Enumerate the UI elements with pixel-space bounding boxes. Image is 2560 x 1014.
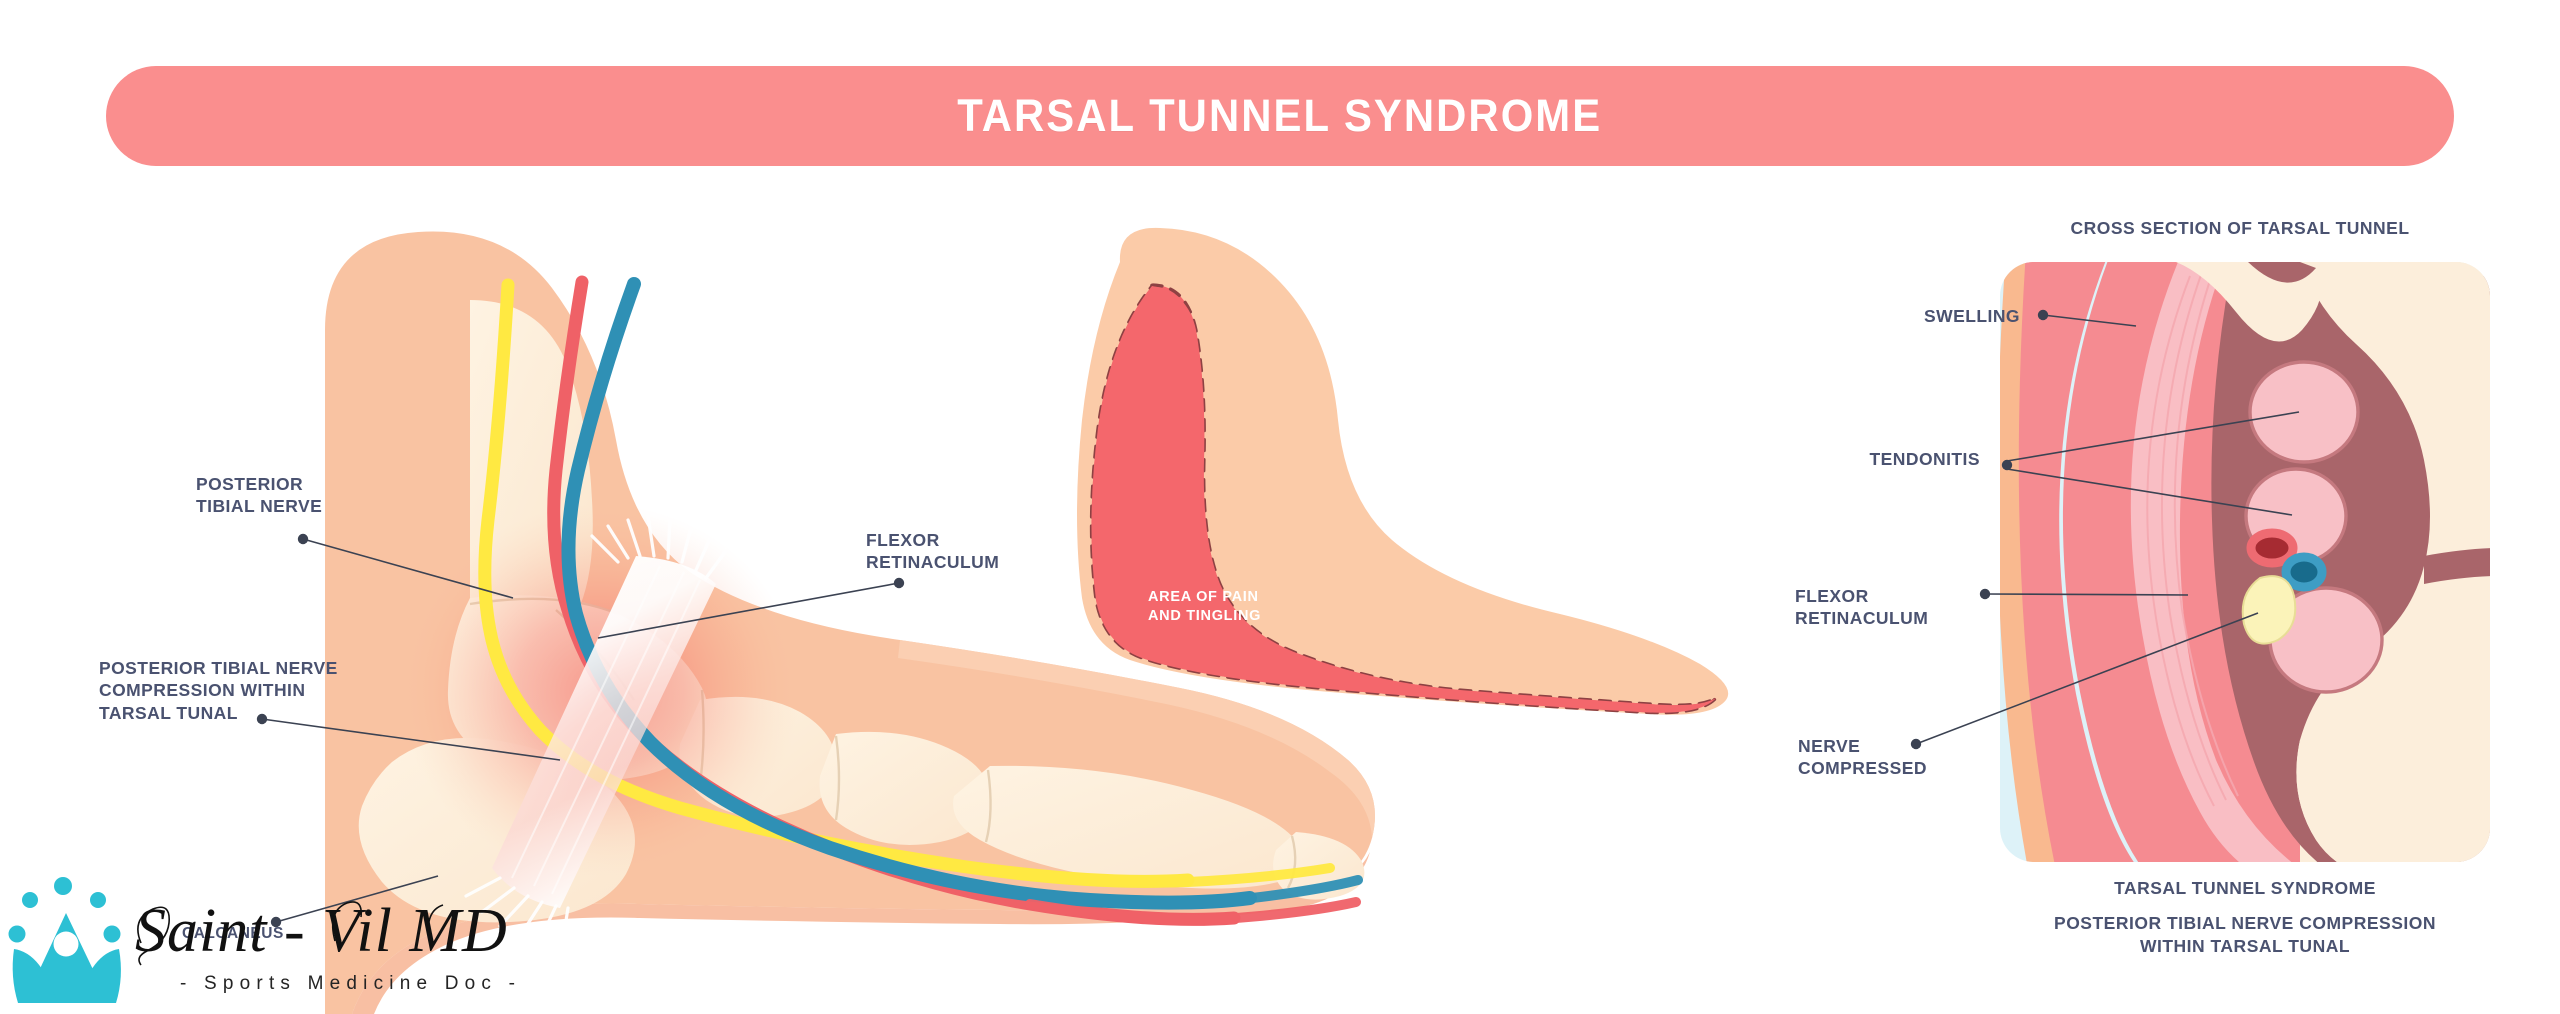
- label-swelling: SWELLING: [1700, 305, 2020, 327]
- logo-tagline: - Sports Medicine Doc -: [180, 973, 521, 995]
- compressed-nerve: [2243, 576, 2296, 643]
- cross-section-leader-lines: [1916, 315, 2299, 744]
- pain-area-region: [1091, 285, 1716, 713]
- label-posterior-tibial-nerve: POSTERIOR TIBIAL NERVE: [196, 473, 322, 518]
- title-banner: TARSAL TUNNEL SYNDROME: [106, 66, 2454, 166]
- label-tendonitis: TENDONITIS: [1680, 448, 1980, 470]
- page-title: TARSAL TUNNEL SYNDROME: [958, 90, 1603, 142]
- illustration-canvas: TARSAL TUNNEL SYNDROME: [0, 0, 2560, 1014]
- label-posterior-tibial-nerve-compression: POSTERIOR TIBIAL NERVE COMPRESSION WITHI…: [99, 657, 338, 724]
- cross-section-caption-secondary: POSTERIOR TIBIAL NERVE COMPRESSION WITHI…: [1900, 912, 2560, 958]
- svg-text:Saint - Vil MD: Saint - Vil MD: [135, 897, 508, 965]
- pain-area-fill: [1091, 286, 1716, 713]
- label-flexor-retinaculum-cross: FLEXOR RETINACULUM: [1795, 585, 1928, 630]
- watermark-logo: Saint - Vil MD - Sports Medicine Doc -: [0, 865, 620, 1014]
- pain-area-annotation-line2: AND TINGLING: [1148, 608, 1261, 624]
- vein-vessel: [2286, 557, 2322, 587]
- cross-section-card: [2000, 262, 2490, 862]
- artery-vessel: [2251, 533, 2293, 563]
- label-flexor-retinaculum-left: FLEXOR RETINACULUM: [866, 529, 999, 574]
- cross-section-heading: CROSS SECTION OF TARSAL TUNNEL: [1860, 218, 2560, 239]
- saint-vil-script: Saint - Vil MD: [135, 889, 535, 975]
- foot-silhouette: [1077, 228, 1728, 715]
- pain-area-annotation-line1: AREA OF PAIN: [1148, 589, 1259, 605]
- label-nerve-compressed: NERVE COMPRESSED: [1798, 735, 1927, 780]
- left-foot-bones: [359, 300, 1365, 922]
- left-foot-vessels: [485, 282, 1250, 919]
- cross-section-leader-dots: [1911, 310, 2048, 749]
- saint-vil-logo-mark: [8, 877, 138, 1005]
- tendon-group: [2246, 362, 2382, 692]
- left-foot-distal-vessels: [960, 866, 1358, 919]
- inflammation-glow: [400, 504, 800, 876]
- cross-section-caption-primary: TARSAL TUNNEL SYNDROME: [1900, 878, 2560, 899]
